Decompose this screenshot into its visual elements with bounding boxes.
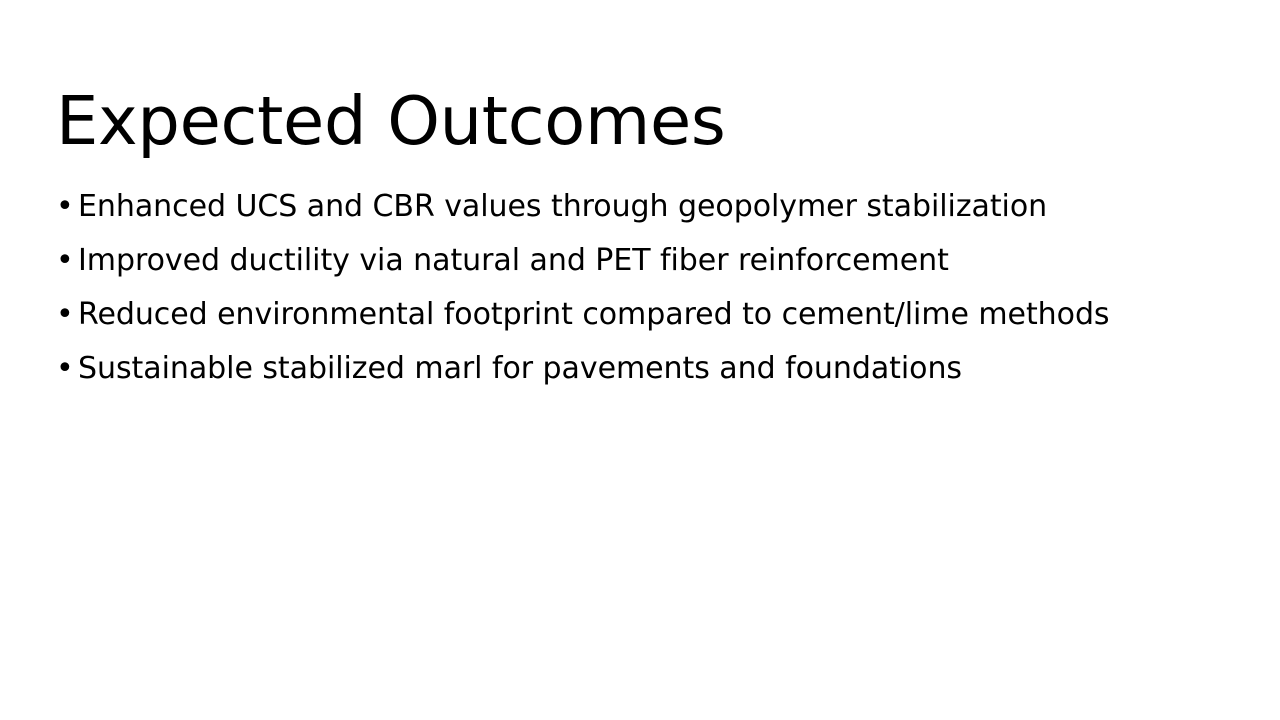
bullet-point-icon: •	[56, 342, 78, 396]
list-item-label: Improved ductility via natural and PET f…	[78, 234, 949, 288]
list-item: • Reduced environmental footprint compar…	[56, 288, 1236, 342]
page-title: Expected Outcomes	[56, 87, 1226, 157]
list-item-label: Reduced environmental footprint compared…	[78, 288, 1110, 342]
presentation-slide: Expected Outcomes • Enhanced UCS and CBR…	[0, 0, 1280, 720]
bullet-point-icon: •	[56, 234, 78, 288]
list-item: • Improved ductility via natural and PET…	[56, 234, 1236, 288]
list-item: • Sustainable stabilized marl for paveme…	[56, 342, 1236, 396]
list-item: • Enhanced UCS and CBR values through ge…	[56, 180, 1236, 234]
bullet-list: • Enhanced UCS and CBR values through ge…	[56, 180, 1236, 396]
bullet-point-icon: •	[56, 180, 78, 234]
list-item-label: Enhanced UCS and CBR values through geop…	[78, 180, 1047, 234]
bullet-point-icon: •	[56, 288, 78, 342]
list-item-label: Sustainable stabilized marl for pavement…	[78, 342, 962, 396]
